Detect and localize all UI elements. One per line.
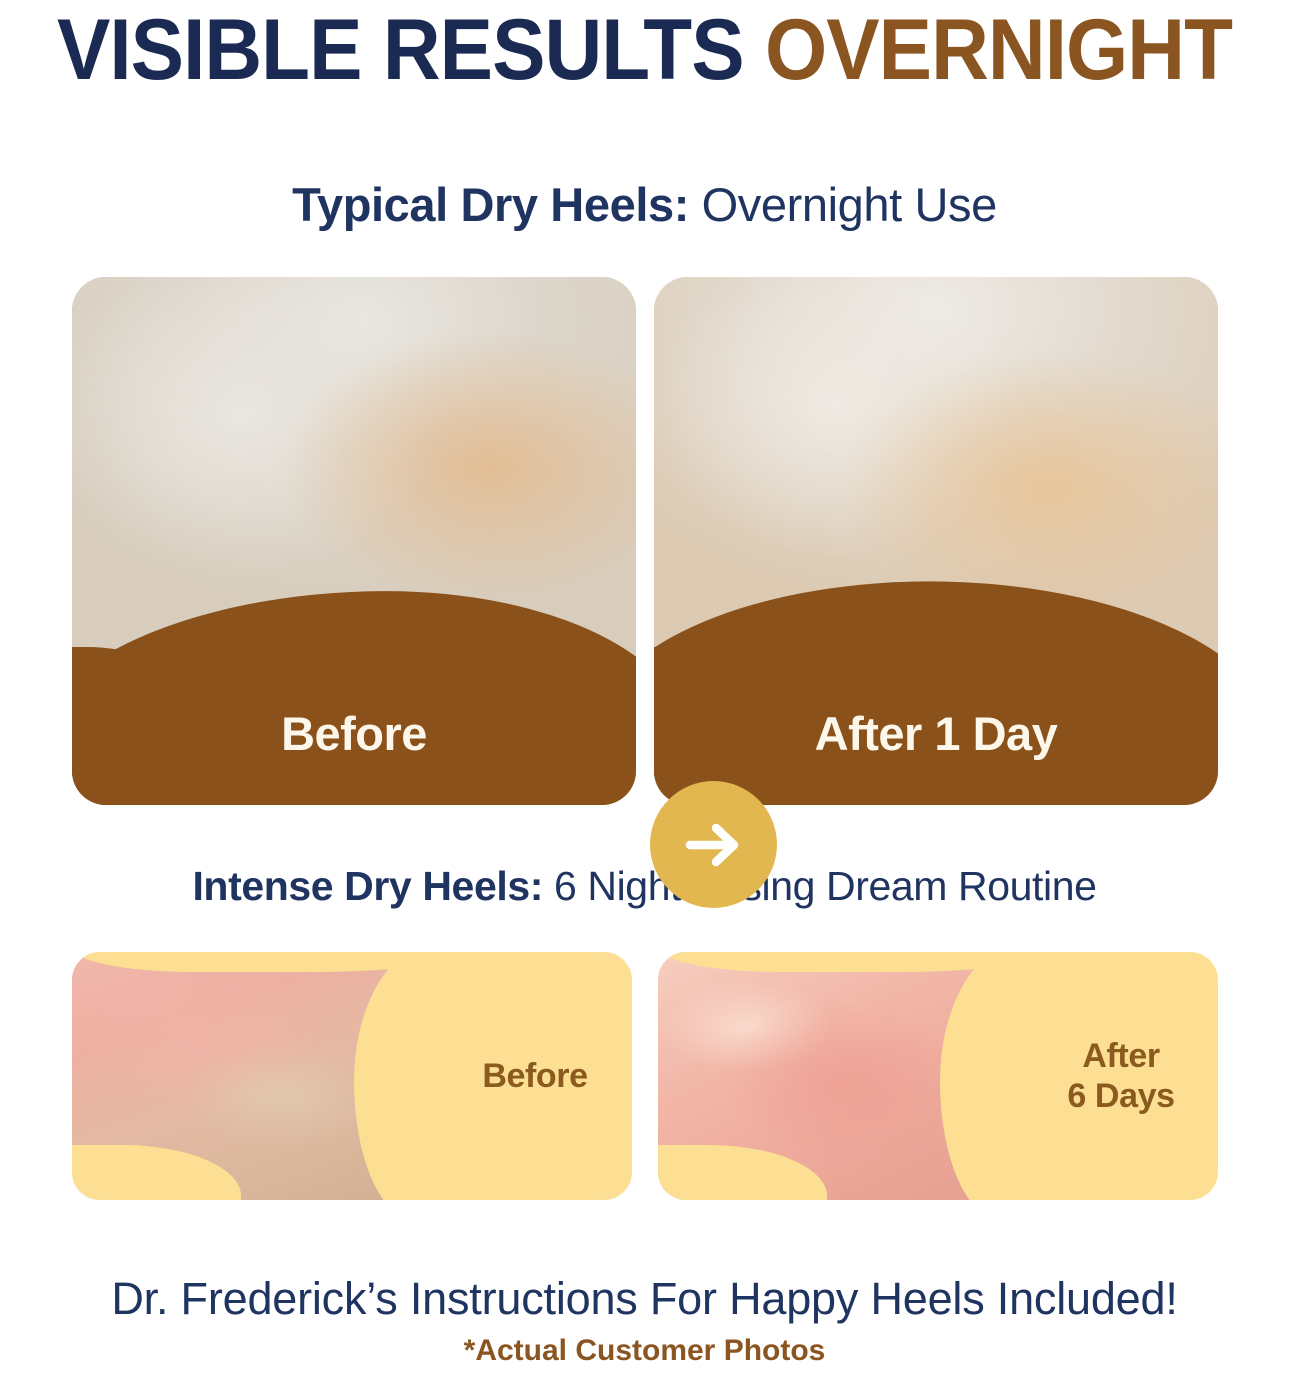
card-before-6-nights: Before	[72, 952, 632, 1200]
headline-part-brown: OVERNIGHT	[765, 2, 1232, 98]
card-caption-before: Before	[72, 706, 636, 761]
severely-cracked-heel-photo	[72, 952, 475, 1200]
footer-disclaimer: *Actual Customer Photos	[0, 1332, 1289, 1370]
comparison-row-top: Before After 1 Day	[72, 277, 1218, 805]
footer-headline: Dr. Frederick’s Instructions For Happy H…	[0, 1272, 1289, 1326]
photo-edge-mask-left	[658, 1145, 827, 1200]
caption-line: 6 Days	[1046, 1076, 1196, 1116]
card-caption-after-6-days: After 6 Days	[1046, 1036, 1196, 1116]
card-caption-after-1-day: After 1 Day	[654, 706, 1218, 761]
subtitle-top-regular: Overnight Use	[702, 178, 997, 231]
subtitle-top-bold: Typical Dry Heels:	[292, 178, 689, 231]
caption-line: Before	[460, 1056, 610, 1096]
arrow-right-icon	[650, 781, 777, 908]
section-subtitle-top: Typical Dry Heels: Overnight Use	[0, 176, 1289, 234]
comparison-row-bottom: Before After 6 Days	[72, 952, 1218, 1200]
subtitle-bottom-bold: Intense Dry Heels:	[192, 863, 543, 909]
section-subtitle-bottom: Intense Dry Heels: 6 Nights Using Dream …	[0, 860, 1289, 912]
caption-line: After	[1046, 1036, 1196, 1076]
healed-heel-photo	[658, 952, 1061, 1200]
photo-edge-mask-left	[72, 1145, 241, 1200]
card-caption-before-6-nights: Before	[460, 1056, 610, 1096]
product-benefits-graphic: VISIBLE RESULTS OVERNIGHT Typical Dry He…	[0, 0, 1289, 1376]
headline-part-navy: VISIBLE RESULTS	[57, 2, 744, 98]
card-after-1-day: After 1 Day	[654, 277, 1218, 805]
card-before-overnight: Before	[72, 277, 636, 805]
subtitle-bottom-regular: 6 Nights Using Dream Routine	[554, 863, 1097, 909]
page-title: VISIBLE RESULTS OVERNIGHT	[45, 2, 1244, 98]
card-after-6-days: After 6 Days	[658, 952, 1218, 1200]
